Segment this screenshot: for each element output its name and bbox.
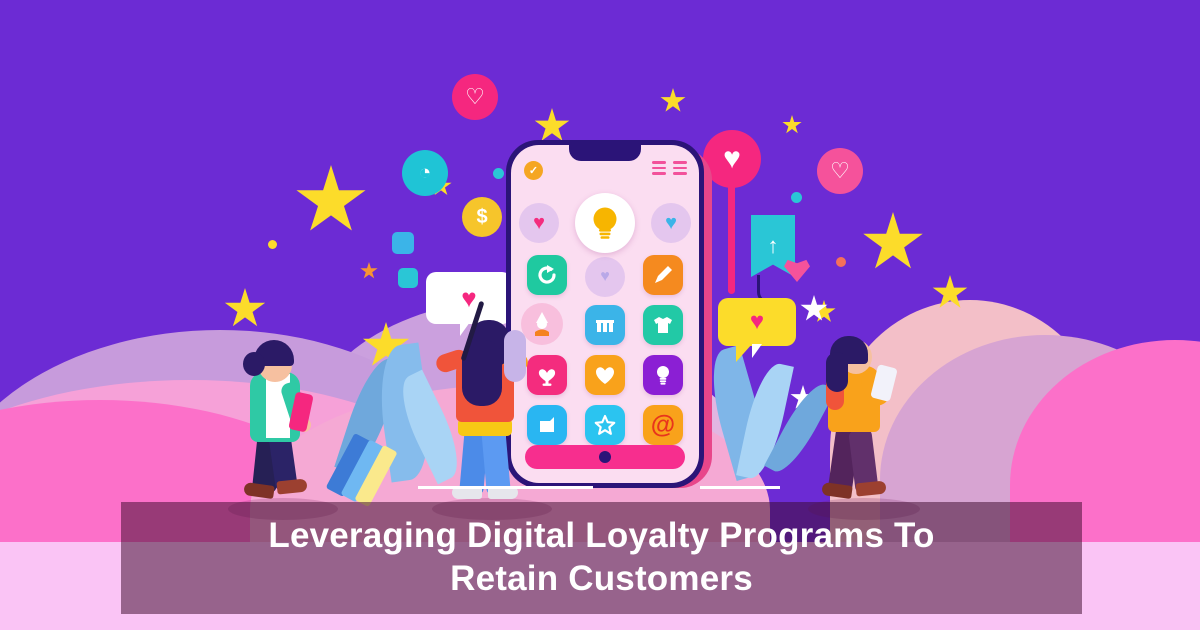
speech-bubble-heart-right: ♥ [718,298,796,346]
title-line-1: Leveraging Digital Loyalty Programs To [268,515,934,558]
hair-highlight [504,330,526,382]
dot-decor [392,232,414,254]
dot-decor [791,192,802,203]
heart-icon: ♥ [533,212,545,235]
page-title: Leveraging Digital Loyalty Programs To R… [121,502,1082,614]
heart-soft-right: ♥ [651,203,691,243]
lightbulb-featured-icon[interactable] [575,193,635,253]
dot-decor [836,257,846,267]
phone-mockup: ✓ ♥ ♥ ♥ [506,140,704,488]
spacer-slot [585,255,625,295]
heart-outline-badge-icon: ♡ [817,148,863,194]
menu-lines-left [652,161,666,175]
badge-glyph: ◔ [419,161,432,185]
phone-screen: ✓ ♥ ♥ ♥ [511,145,699,483]
banner-canvas: ♡ ◔ $ ♡ ♥ ↑ ♥ ♥ ✓ ♥ ♥ [0,0,1200,630]
at-app-icon[interactable]: @ [643,405,683,445]
badge-glyph: ♡ [830,158,850,184]
tag-badge-icon: ◔ [402,150,448,196]
spacer-slot-medal [527,305,567,345]
badge-glyph: ↑ [768,233,779,259]
app-grid: @ [511,255,699,445]
gift-icon [535,413,559,437]
speech-tail [736,344,752,362]
refresh-app-icon[interactable] [527,255,567,295]
phone-dock[interactable] [525,445,685,469]
title-line-2: Retain Customers [450,558,753,601]
heart-icon [593,363,617,387]
heart-icon: ♥ [665,212,677,235]
trophy-heart-icon [535,363,559,387]
lightbulb-icon [590,206,620,240]
dot-decor [398,268,418,288]
badge-glyph: ♥ [723,142,741,176]
hair-bun [243,352,265,376]
menu-icon[interactable] [652,161,687,175]
check-glyph: ✓ [529,164,538,177]
badge-glyph: ♡ [465,84,485,110]
bulb-app-icon[interactable] [643,355,683,395]
lightbulb-icon [651,363,675,387]
star-icon [593,413,617,437]
heart-icon: ♥ [750,308,764,336]
pencil-icon [651,263,675,287]
heart-soft-left: ♥ [519,203,559,243]
shop-icon [593,313,617,337]
divider-left [418,486,593,489]
shirt-app-icon[interactable] [643,305,683,345]
phone-notch [569,145,641,161]
speech-bubble-heart: ♥ [426,272,512,324]
star-app-icon[interactable] [585,405,625,445]
menu-lines-right [673,161,687,175]
heart-icon: ♥ [461,283,476,314]
gift-app-icon[interactable] [527,405,567,445]
dot-decor [268,240,277,249]
heart-app-icon[interactable] [585,355,625,395]
divider-right [700,486,780,489]
book-badge-icon: ♡ [452,74,498,120]
pencil-app-icon[interactable] [643,255,683,295]
coin-badge-icon: $ [462,197,502,237]
dot-decor [493,168,504,179]
shirt-icon [651,313,675,337]
shop-app-icon[interactable] [585,305,625,345]
hair-long [826,352,848,392]
home-button-icon[interactable] [599,451,611,463]
badge-glyph: $ [476,206,487,229]
check-badge-icon: ✓ [524,161,543,180]
heart-pin-stem [728,176,735,294]
refresh-icon [535,263,559,287]
at-glyph: @ [651,413,675,438]
trophy-app-icon[interactable] [527,355,567,395]
